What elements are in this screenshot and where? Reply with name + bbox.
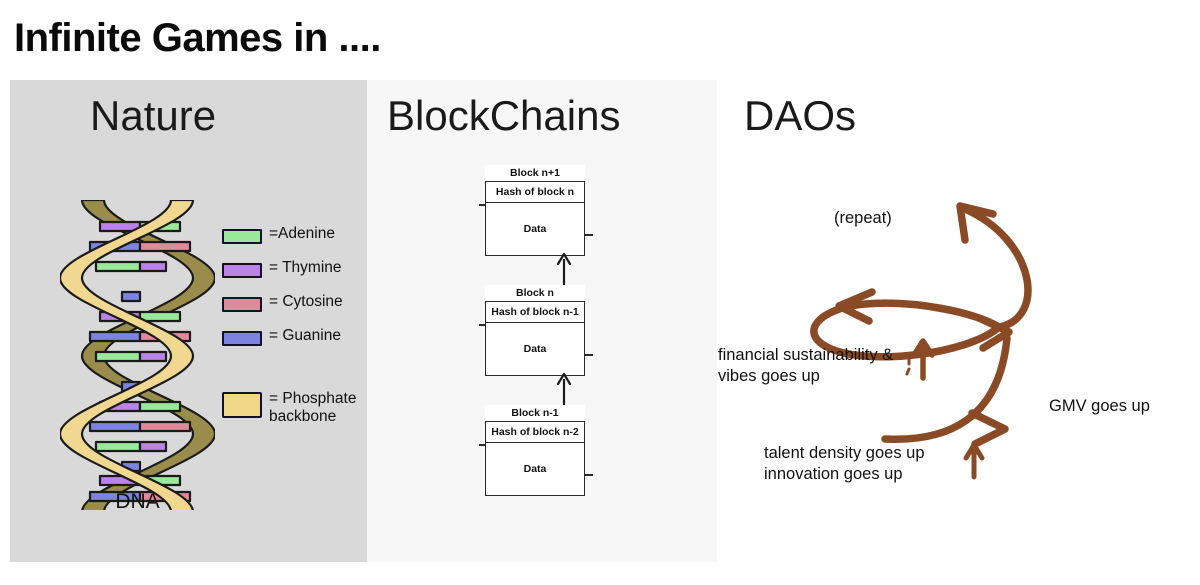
- dao-up-arrow-talent-icon: [966, 445, 982, 477]
- block-link-arrow-icon: [557, 252, 571, 288]
- legend-item-phosphate: = Phosphate backbone: [222, 390, 367, 426]
- block-connector-stub-right: [584, 234, 593, 236]
- block-caption: Block n+1: [485, 165, 585, 181]
- dao-annotation-gmv: GMV goes up: [1049, 396, 1150, 417]
- block-box: Hash of block n-1 Data: [485, 301, 585, 376]
- legend-label-guanine: = Guanine: [269, 327, 341, 345]
- block-data-field: Data: [486, 323, 584, 375]
- legend-item-guanine: = Guanine: [222, 327, 367, 346]
- legend-item-thymine: = Thymine: [222, 259, 367, 278]
- block-data-field: Data: [486, 203, 584, 255]
- legend-label-cytosine: = Cytosine: [269, 293, 343, 311]
- legend-swatch-phosphate: [222, 392, 262, 418]
- page-title: Infinite Games in ....: [14, 16, 381, 61]
- block-group: Block n-1 Hash of block n-2 Data: [485, 405, 585, 496]
- dao-annotation-talent: talent density goes up innovation goes u…: [764, 443, 925, 484]
- block-data-field: Data: [486, 443, 584, 495]
- block-box: Hash of block n-2 Data: [485, 421, 585, 496]
- block-group: Block n+1 Hash of block n Data: [485, 165, 585, 256]
- block-connector-stub-left: [479, 204, 486, 206]
- blockchain-figure: Block n+1 Hash of block n Data Block n H…: [485, 165, 605, 545]
- legend-item-adenine: =Adenine: [222, 225, 367, 244]
- block-link-arrow-icon: [557, 372, 571, 408]
- block-box: Hash of block n Data: [485, 181, 585, 256]
- block-caption: Block n: [485, 285, 585, 301]
- dao-annotation-financial: financial sustainability & vibes goes up: [718, 345, 893, 386]
- block-connector-stub-right: [584, 354, 593, 356]
- dao-tick-mark-icon: [907, 359, 909, 374]
- dao-up-arrow-financial-icon: [914, 341, 932, 378]
- legend-swatch-thymine: [222, 263, 262, 278]
- block-caption: Block n-1: [485, 405, 585, 421]
- panel-heading-nature: Nature: [90, 92, 216, 140]
- block-hash-field: Hash of block n-1: [486, 302, 584, 323]
- dna-legend: =Adenine = Thymine = Cytosine = Guanine …: [222, 225, 367, 441]
- block-hash-field: Hash of block n-2: [486, 422, 584, 443]
- dao-flywheel-figure: [717, 80, 1200, 562]
- block-connector-stub-right: [584, 474, 593, 476]
- dao-flywheel-svg: [717, 80, 1200, 562]
- dao-annotation-repeat: (repeat): [834, 208, 892, 229]
- block-connector-stub-left: [479, 444, 486, 446]
- dna-helix-svg: [60, 200, 215, 510]
- dao-arc-upper-right: [965, 209, 1028, 327]
- legend-swatch-guanine: [222, 331, 262, 346]
- legend-swatch-adenine: [222, 229, 262, 244]
- dna-helix-figure: [60, 200, 215, 510]
- block-group: Block n Hash of block n-1 Data: [485, 285, 585, 376]
- panel-heading-blockchains: BlockChains: [387, 92, 620, 140]
- dna-figure-label: DNA: [60, 490, 215, 514]
- legend-swatch-cytosine: [222, 297, 262, 312]
- block-hash-field: Hash of block n: [486, 182, 584, 203]
- legend-label-phosphate: = Phosphate backbone: [269, 390, 356, 426]
- legend-item-cytosine: = Cytosine: [222, 293, 367, 312]
- panel-nature: Nature: [10, 80, 367, 562]
- dao-arrowhead-lower-icon: [972, 413, 1005, 444]
- legend-label-thymine: = Thymine: [269, 259, 342, 277]
- legend-label-adenine: =Adenine: [269, 225, 335, 243]
- panel-daos: DAOs: [717, 80, 1200, 562]
- panel-blockchains: BlockChains Block n+1 Hash of block n Da…: [367, 80, 717, 562]
- block-connector-stub-left: [479, 324, 486, 326]
